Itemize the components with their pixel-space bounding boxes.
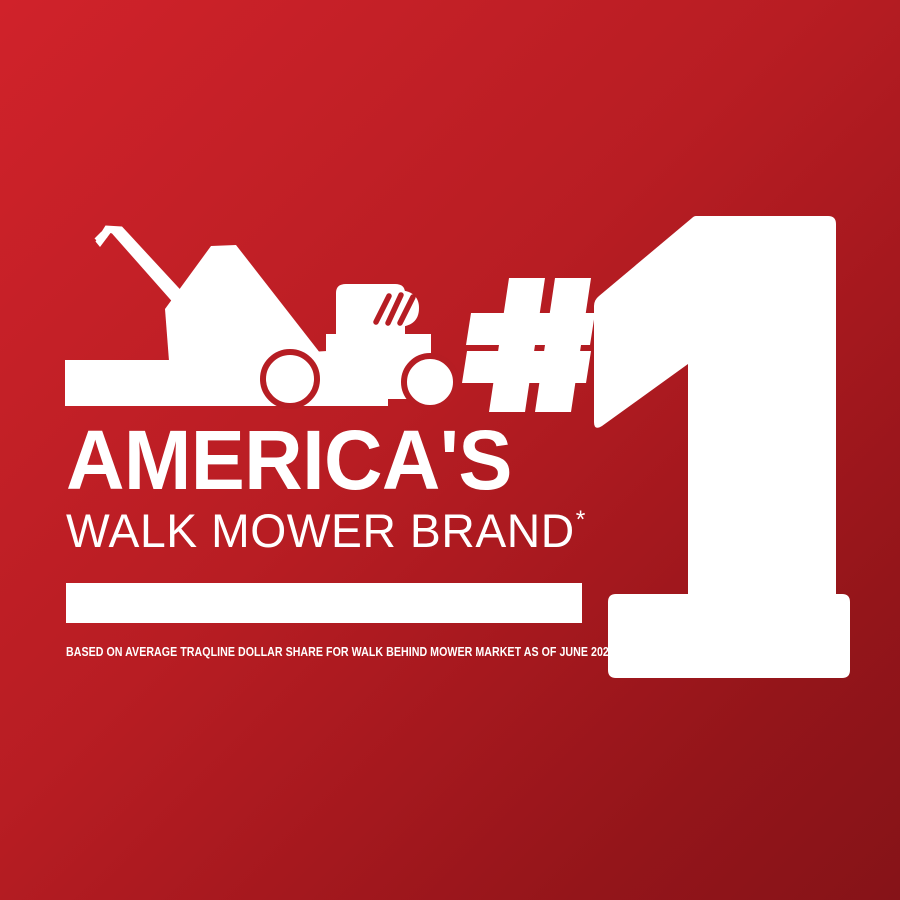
- numeral-one-graphic: [592, 214, 850, 680]
- white-rule-bar: [66, 583, 582, 623]
- walk-behind-mower-icon: [58, 222, 458, 418]
- headline-secondary-text: WALK MOWER BRAND: [66, 504, 575, 557]
- fine-print-disclaimer: BASED ON AVERAGE TRAQLINE DOLLAR SHARE F…: [66, 645, 573, 659]
- promotional-badge: AMERICA'S WALK MOWER BRAND* BASED ON AVE…: [0, 0, 900, 900]
- headline-block: AMERICA'S WALK MOWER BRAND*: [66, 424, 626, 554]
- hash-symbol-icon: [462, 272, 598, 418]
- headline-secondary: WALK MOWER BRAND*: [66, 507, 618, 554]
- asterisk-footnote-marker: *: [576, 506, 586, 534]
- headline-primary: AMERICA'S: [66, 424, 606, 498]
